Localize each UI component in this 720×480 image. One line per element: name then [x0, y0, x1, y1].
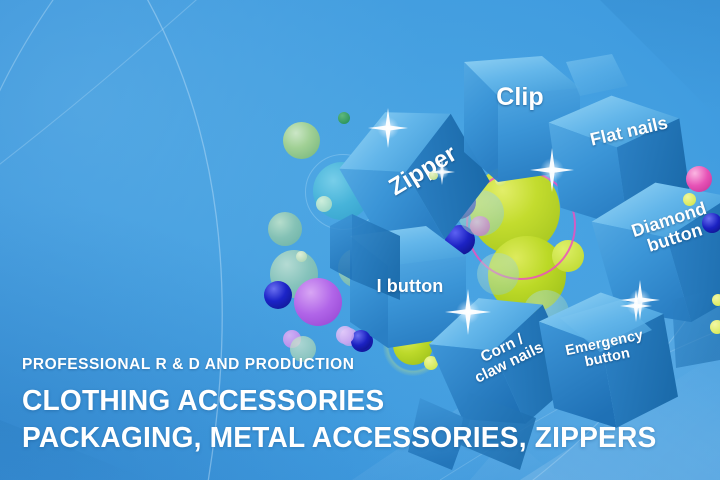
- headline-line-2: PACKAGING, METAL ACCESSORIES, ZIPPERS: [22, 420, 662, 458]
- headline-line-1: CLOTHING ACCESSORIES: [22, 383, 662, 421]
- headline-block: PROFESSIONAL R & D AND PRODUCTION CLOTHI…: [22, 356, 682, 458]
- eyebrow-text: PROFESSIONAL R & D AND PRODUCTION: [22, 356, 682, 374]
- promo-banner: Zipper Clip Flat nails Diamond button I …: [0, 0, 720, 480]
